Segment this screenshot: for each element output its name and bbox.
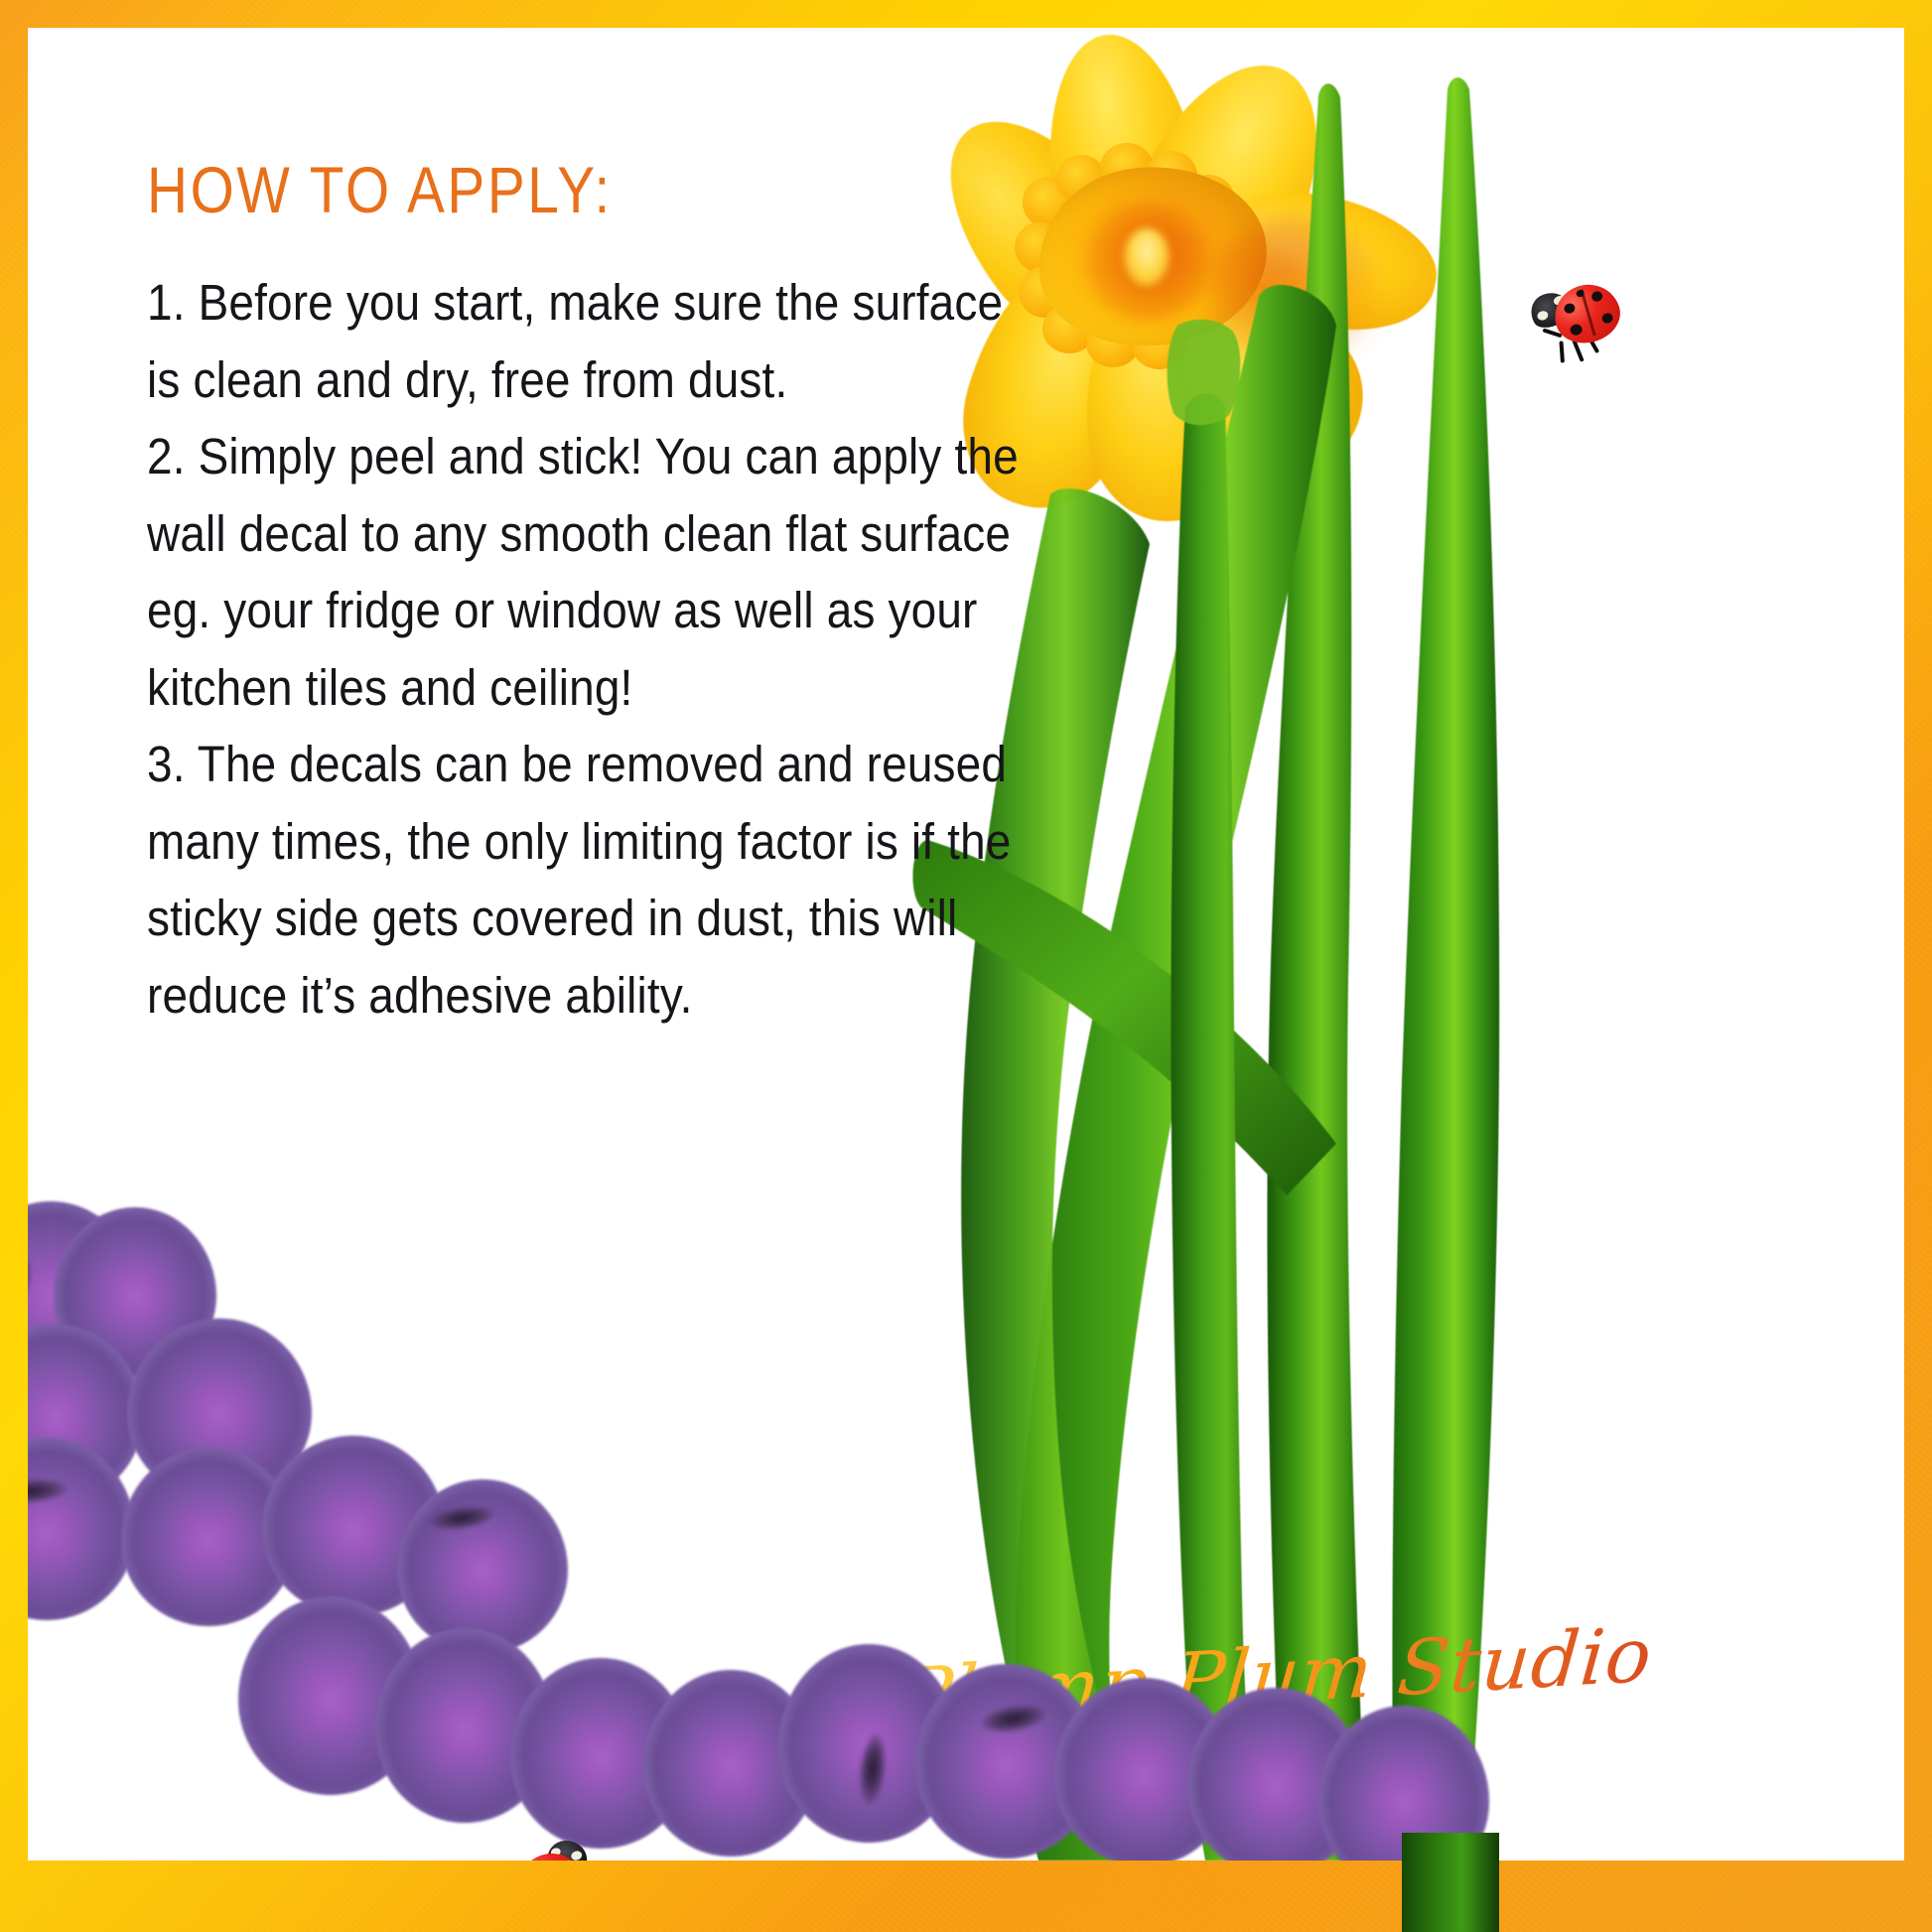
instruction-step-2: 2. Simply peel and stick! You can apply … xyxy=(147,418,1023,726)
flower-sheath xyxy=(1168,320,1241,426)
instruction-step-3: 3. The decals can be removed and reused … xyxy=(147,726,1023,1034)
leaf-blade xyxy=(1392,77,1499,1861)
content-card: HOW TO APPLY: 1. Before you start, make … xyxy=(28,28,1904,1861)
ladybug-leg xyxy=(1559,341,1565,362)
plum xyxy=(397,1479,568,1654)
instructions-steps: 1. Before you start, make sure the surfa… xyxy=(147,264,1023,1034)
page-title: HOW TO APPLY: xyxy=(147,157,864,222)
instruction-step-1: 1. Before you start, make sure the surfa… xyxy=(147,264,1023,418)
poster-canvas: HOW TO APPLY: 1. Before you start, make … xyxy=(0,0,1932,1932)
instructions-block: HOW TO APPLY: 1. Before you start, make … xyxy=(147,157,981,1034)
stem-overflow-bottom xyxy=(0,1833,1932,1932)
